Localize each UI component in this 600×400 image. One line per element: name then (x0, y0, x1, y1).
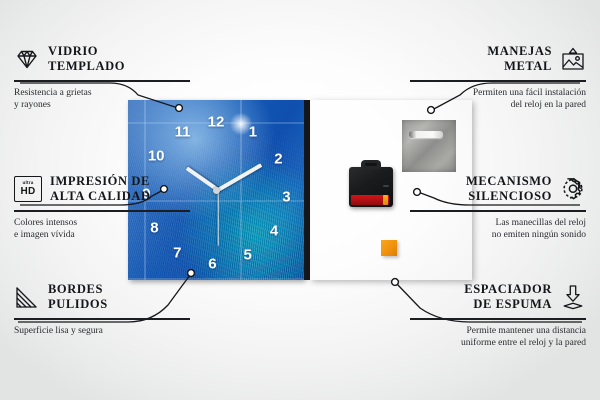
gear-icon (560, 176, 586, 202)
clock-center-cap (213, 187, 220, 194)
feature-title: BORDESPULIDOS (48, 282, 108, 312)
feature-divider (14, 210, 190, 212)
picture-frame-hanger-icon (560, 46, 586, 72)
clock-number-2: 2 (274, 152, 282, 167)
feature-divider (410, 210, 586, 212)
feature-divider (410, 80, 586, 82)
feature-manejas-metal: MANEJASMETAL Permiten una fácil instalac… (410, 42, 586, 112)
quartz-mechanism (349, 167, 393, 207)
mechanism-detail (383, 185, 389, 187)
second-hand (217, 188, 218, 246)
clock-number-11: 11 (175, 124, 191, 139)
feature-description: Permiten una fácil instalacióndel reloj … (410, 87, 586, 112)
feature-title: MECANISMOSILENCIOSO (466, 174, 552, 204)
polished-edge-icon (14, 284, 40, 310)
metal-hanger-plate (402, 120, 456, 172)
feature-mecanismo-silencioso: MECANISMOSILENCIOSO Las manecillas del r… (410, 172, 586, 242)
foam-spacer (381, 240, 397, 256)
feature-description: Permite mantener una distanciauniforme e… (410, 325, 586, 350)
feature-title: MANEJASMETAL (487, 44, 552, 74)
hanger-slot (409, 131, 442, 138)
feature-vidrio-templado: VIDRIOTEMPLADO Resistencia a grietasy ra… (14, 42, 190, 112)
feature-divider (14, 80, 190, 82)
clock-number-10: 10 (148, 148, 165, 163)
feature-title: ESPACIADORDE ESPUMA (464, 282, 552, 312)
clock-number-7: 7 (173, 246, 181, 261)
clock-number-3: 3 (282, 190, 290, 205)
infographic-canvas: 12 1 2 3 4 5 6 7 8 9 10 11 (0, 0, 600, 400)
battery (351, 195, 390, 204)
clock-number-6: 6 (208, 256, 216, 271)
feature-impresion-alta-calidad: ultra HD IMPRESIÓN DEALTA CALIDAD Colore… (14, 172, 190, 242)
mechanism-tab (361, 160, 380, 169)
minute-hand (215, 163, 262, 192)
feature-description: Resistencia a grietasy rayones (14, 87, 190, 112)
feature-title: IMPRESIÓN DEALTA CALIDAD (50, 174, 151, 204)
clock-number-12: 12 (208, 114, 225, 129)
arrow-onto-layer-icon (560, 284, 586, 310)
feature-divider (14, 318, 190, 320)
ultra-hd-icon: ultra HD (14, 176, 42, 202)
feature-espaciador-de-espuma: ESPACIADORDE ESPUMA Permite mantener una… (410, 280, 586, 350)
clock-number-1: 1 (249, 124, 257, 139)
diamond-icon (14, 46, 40, 72)
clock-number-5: 5 (244, 247, 252, 262)
feature-description: Superficie lisa y segura (14, 325, 190, 338)
feature-description: Colores intensose imagen vívida (14, 217, 190, 242)
clock-number-4: 4 (270, 224, 278, 239)
feature-bordes-pulidos: BORDESPULIDOS Superficie lisa y segura (14, 280, 190, 337)
feature-description: Las manecillas del relojno emiten ningún… (410, 217, 586, 242)
feature-title: VIDRIOTEMPLADO (48, 44, 125, 74)
feature-divider (410, 318, 586, 320)
